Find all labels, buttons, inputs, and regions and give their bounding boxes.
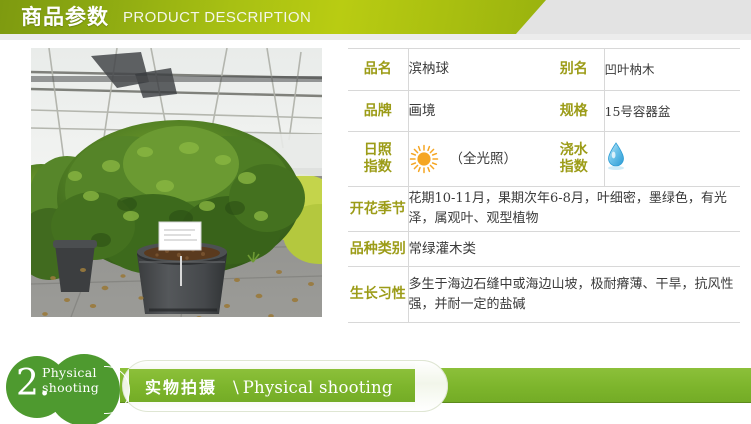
- spec-label-variety-category: 品种类别: [348, 232, 408, 267]
- table-row: 开花季节 花期10-11月，果期次年6-8月，叶细密，墨绿色，有光泽，属观叶、观…: [348, 187, 740, 232]
- badge-label-line1: Physical: [42, 365, 99, 380]
- badge-label: Physical shooting: [42, 365, 99, 395]
- spec-value-size: 15号容器盆: [604, 91, 740, 132]
- product-photo: [31, 48, 322, 317]
- spec-label-watering: 浇水 指数: [544, 132, 604, 187]
- footer-title-en: Physical shooting: [243, 378, 393, 397]
- badge-arc-decoration: [104, 366, 130, 414]
- spec-value-flowering-season: 花期10-11月，果期次年6-8月，叶细密，墨绿色，有光泽，属观叶、观型植物: [408, 187, 740, 232]
- page-title-en: PRODUCT DESCRIPTION: [123, 8, 311, 28]
- table-row: 品名 滨枘球 别名 凹叶枘木: [348, 49, 740, 91]
- spec-value-sunlight: （全光照）: [408, 132, 544, 187]
- watering-label-line2: 指数: [544, 159, 604, 176]
- sunlight-label-line2: 指数: [348, 159, 408, 176]
- spec-label-growth-habit: 生长习性: [348, 267, 408, 323]
- water-drop-icon: [605, 141, 629, 171]
- footer-separator: \: [233, 378, 239, 398]
- sun-icon: [409, 144, 439, 174]
- page-header-banner: 商品参数 PRODUCT DESCRIPTION: [0, 0, 751, 40]
- spec-value-name: 滨枘球: [408, 49, 544, 91]
- sunlight-note: （全光照）: [450, 150, 518, 169]
- watering-label-line1: 浇水: [544, 142, 604, 159]
- table-row: 品牌 画境 规格 15号容器盆: [348, 91, 740, 132]
- spec-value-growth-habit: 多生于海边石缝中或海边山坡，极耐瘠薄、干旱，抗风性强，并耐一定的盐碱: [408, 267, 740, 323]
- table-row: 日照 指数: [348, 132, 740, 187]
- product-description-page: 商品参数 PRODUCT DESCRIPTION: [0, 0, 751, 424]
- badge-label-line2: shooting: [42, 380, 99, 395]
- spec-value-variety-category: 常绿灌木类: [408, 232, 740, 267]
- page-title-cn: 商品参数: [21, 4, 109, 31]
- spec-label-flowering-season: 开花季节: [348, 187, 408, 232]
- spec-label-name: 品名: [348, 49, 408, 91]
- banner-underline: [0, 34, 751, 40]
- spec-label-size: 规格: [544, 91, 604, 132]
- product-spec-table: 品名 滨枘球 别名 凹叶枘木 品牌 画境 规格 15号容器盆 日照 指数: [348, 48, 740, 323]
- sunlight-label-line1: 日照: [348, 142, 408, 159]
- spec-value-alias: 凹叶枘木: [604, 49, 740, 91]
- footer-title-cn: 实物拍摄: [145, 378, 217, 397]
- spec-value-brand: 画境: [408, 91, 544, 132]
- spec-value-watering: [604, 132, 740, 187]
- product-photo-illustration: [31, 48, 322, 317]
- table-row: 品种类别 常绿灌木类: [348, 232, 740, 267]
- table-row: 生长习性 多生于海边石缝中或海边山坡，极耐瘠薄、干旱，抗风性强，并耐一定的盐碱: [348, 267, 740, 323]
- spec-label-alias: 别名: [544, 49, 604, 91]
- section-number-badge: 2. Physical shooting: [6, 354, 128, 424]
- spec-label-brand: 品牌: [348, 91, 408, 132]
- footer-title-group: 实物拍摄\Physical shooting: [145, 374, 393, 398]
- spec-label-sunlight: 日照 指数: [348, 132, 408, 187]
